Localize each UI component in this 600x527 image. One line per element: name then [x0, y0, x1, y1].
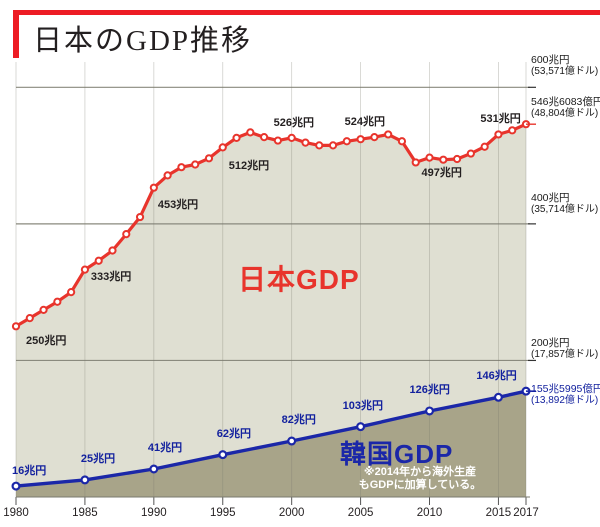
korea-data-point — [288, 438, 295, 445]
japan-data-point — [482, 144, 488, 150]
japan-value-label-2010: 497兆円 — [422, 164, 462, 180]
korea-data-point — [495, 394, 502, 401]
japan-data-point — [357, 136, 363, 142]
japan-data-point — [468, 150, 474, 156]
japan-data-point — [275, 137, 281, 143]
korea-value-label-1995: 62兆円 — [217, 425, 251, 441]
japan-data-point — [123, 231, 129, 237]
japan-data-point — [399, 138, 405, 144]
korea-value-label-2010: 126兆円 — [410, 381, 450, 397]
japan-data-point — [68, 289, 74, 295]
korea-value-label-2000: 82兆円 — [282, 411, 316, 427]
korea-value-label-1980: 16兆円 — [12, 462, 46, 478]
x-tick-2015: 2015 — [486, 507, 512, 519]
japan-data-point — [206, 155, 212, 161]
japan-data-point — [454, 156, 460, 162]
chart-page: 日本のGDP推移 600兆円 (53,571億ドル) 546兆6083億円 (4… — [0, 0, 600, 527]
x-tick-2000: 2000 — [279, 507, 305, 519]
x-tick-1985: 1985 — [72, 507, 98, 519]
japan-value-label-2000: 526兆円 — [274, 114, 314, 130]
japan-data-point — [192, 161, 198, 167]
japan-data-point — [316, 142, 322, 148]
x-tick-1995: 1995 — [210, 507, 236, 519]
japan-data-point — [247, 129, 253, 135]
korea-value-label-2005: 103兆円 — [343, 397, 383, 413]
korea-data-point — [82, 477, 89, 484]
korea-data-point — [13, 483, 20, 490]
japan-value-label-1985: 333兆円 — [91, 268, 131, 284]
korea-series-note: ※2014年から海外生産 もGDPに加算している。 — [330, 466, 510, 491]
y-axis-label-400: 400兆円 (35,714億ドル) — [531, 192, 598, 216]
japan-data-point — [344, 138, 350, 144]
japan-data-point — [82, 267, 88, 273]
x-tick-1980: 1980 — [3, 507, 29, 519]
korea-data-point — [426, 408, 433, 415]
x-tick-2017: 2017 — [513, 507, 539, 519]
japan-data-point — [371, 134, 377, 140]
japan-data-point — [495, 131, 501, 137]
japan-data-point — [413, 159, 419, 165]
x-tick-1990: 1990 — [141, 507, 167, 519]
x-tick-2010: 2010 — [417, 507, 443, 519]
y-axis-label-200: 200兆円 (17,857億ドル) — [531, 337, 598, 361]
japan-value-label-2015: 531兆円 — [480, 110, 520, 126]
japan-end-value-label: 546兆6083億円 (48,804億ドル) — [531, 96, 600, 120]
korea-end-value-label: 155兆5995億円 (13,892億ドル) — [531, 383, 600, 407]
japan-data-point — [330, 142, 336, 148]
korea-value-label-1985: 25兆円 — [81, 450, 115, 466]
japan-data-point — [233, 135, 239, 141]
japan-data-point — [385, 131, 391, 137]
korea-data-point — [219, 451, 226, 458]
japan-data-point — [261, 134, 267, 140]
japan-value-label-1990: 453兆円 — [158, 196, 198, 212]
korea-data-point — [150, 466, 157, 473]
japan-data-point — [27, 315, 33, 321]
japan-value-label-2005: 524兆円 — [345, 113, 385, 129]
korea-data-point — [357, 423, 364, 430]
korea-value-label-1990: 41兆円 — [148, 439, 182, 455]
japan-data-point — [302, 140, 308, 146]
japan-data-point — [440, 157, 446, 163]
japan-data-point — [289, 135, 295, 141]
korea-value-label-2015: 146兆円 — [476, 367, 516, 383]
japan-data-point — [178, 164, 184, 170]
japan-data-point — [54, 299, 60, 305]
japan-data-point — [137, 214, 143, 220]
japan-series-label: 日本GDP — [238, 258, 360, 298]
y-axis-label-600: 600兆円 (53,571億ドル) — [531, 54, 598, 78]
japan-data-point — [509, 127, 515, 133]
japan-data-point — [426, 155, 432, 161]
japan-data-point — [151, 185, 157, 191]
japan-data-point — [109, 247, 115, 253]
japan-data-point — [13, 323, 19, 329]
japan-value-label-1980: 250兆円 — [26, 332, 66, 348]
japan-value-label-1995: 512兆円 — [229, 157, 269, 173]
japan-data-point — [96, 258, 102, 264]
japan-data-point — [40, 307, 46, 313]
japan-data-point — [165, 172, 171, 178]
japan-data-point — [220, 144, 226, 150]
x-tick-2005: 2005 — [348, 507, 374, 519]
